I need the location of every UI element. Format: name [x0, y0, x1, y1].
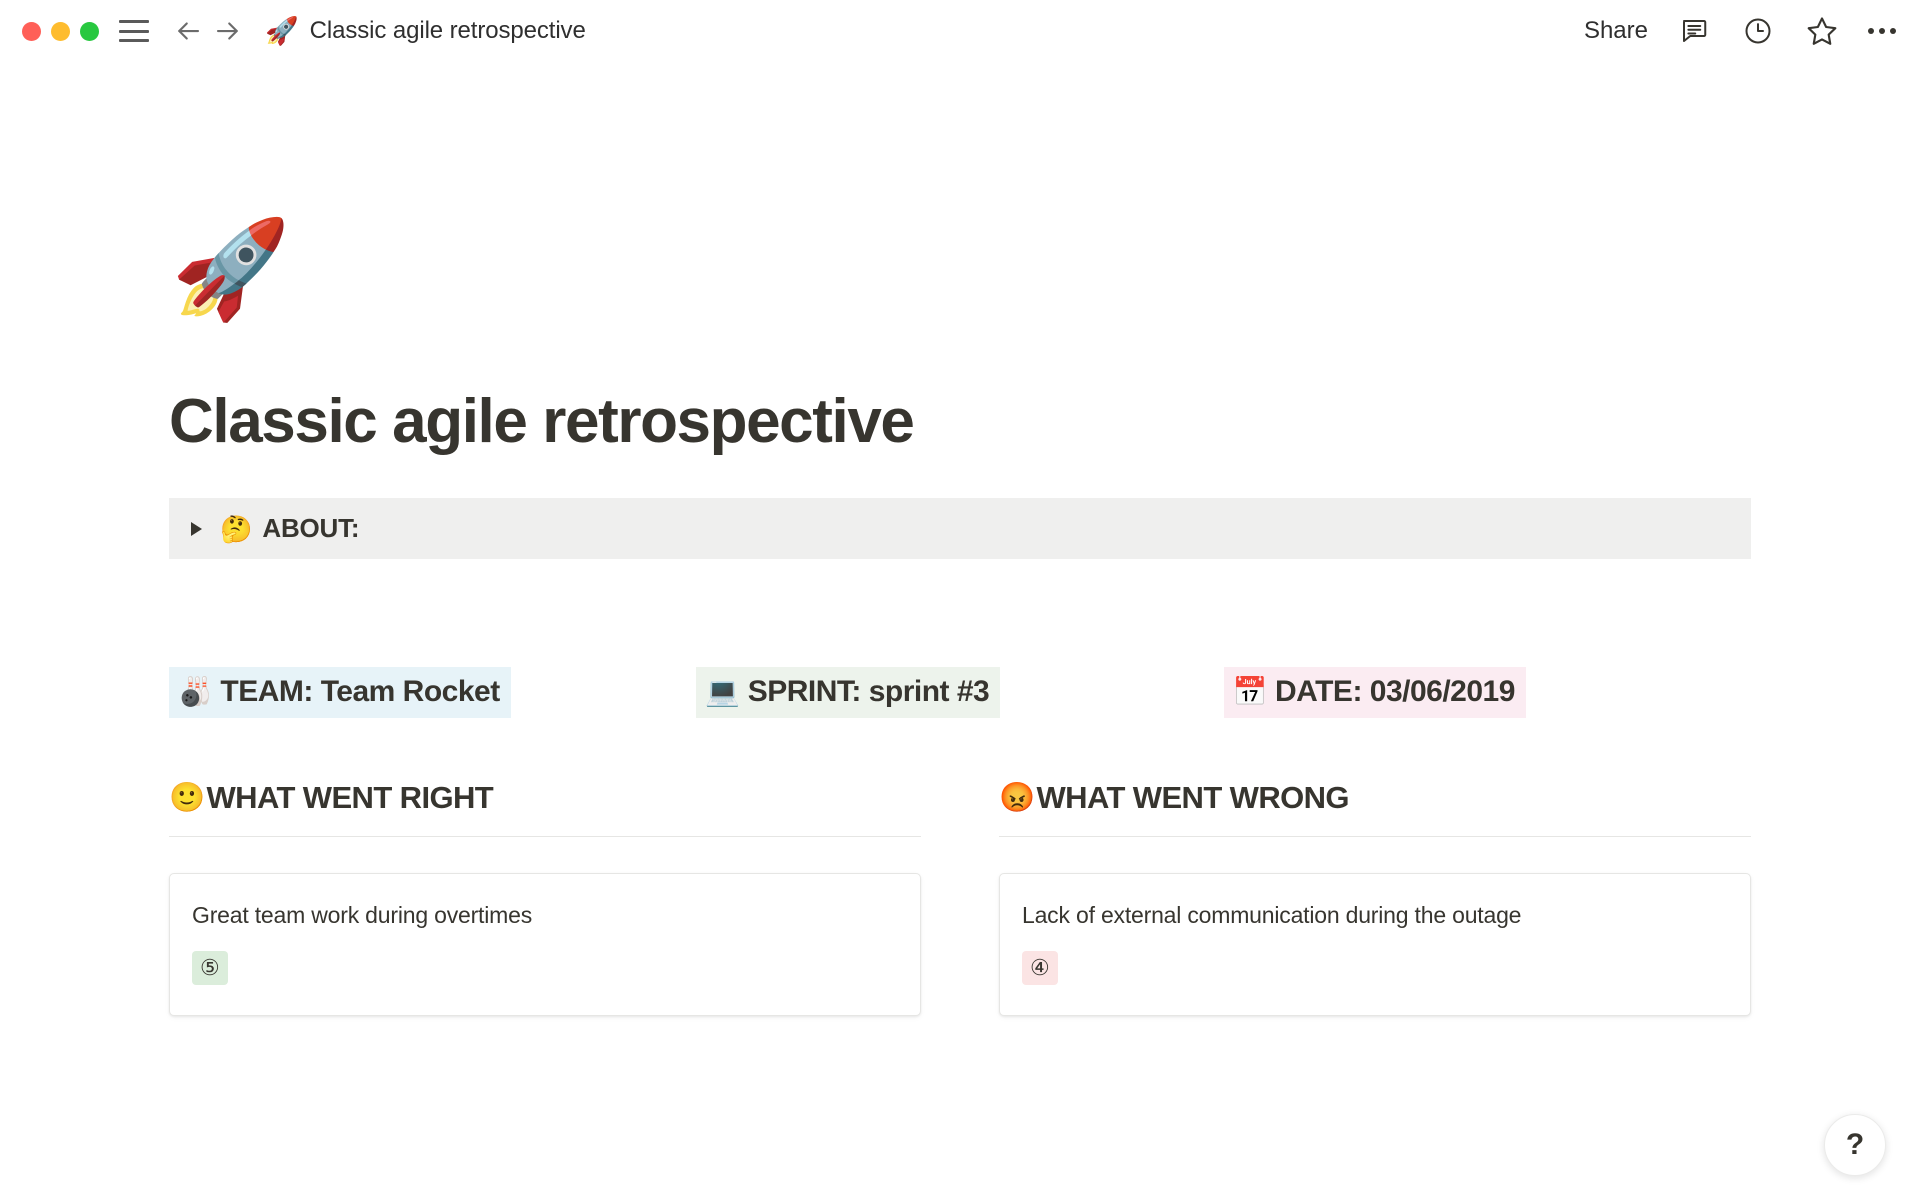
column-heading-right[interactable]: 🙂 WHAT WENT RIGHT	[169, 780, 921, 836]
info-chip-date-label: DATE: 03/06/2019	[1275, 675, 1515, 709]
divider	[999, 836, 1751, 837]
rocket-icon: 🚀	[265, 18, 299, 45]
toggle-block-about[interactable]: 🤔 ABOUT:	[169, 498, 1751, 559]
info-chip-team[interactable]: 🎳 TEAM: Team Rocket	[169, 667, 511, 718]
minimize-window-button[interactable]	[51, 22, 70, 41]
column-heading-right-label: WHAT WENT RIGHT	[207, 780, 494, 816]
breadcrumb[interactable]: 🚀 Classic agile retrospective	[265, 17, 586, 45]
retro-card-text: Great team work during overtimes	[192, 900, 898, 931]
retrospective-columns: 🙂 WHAT WENT RIGHT Great team work during…	[169, 780, 1751, 1016]
breadcrumb-title: Classic agile retrospective	[310, 17, 586, 45]
calendar-icon: 📅	[1233, 678, 1267, 706]
column-what-went-right: 🙂 WHAT WENT RIGHT Great team work during…	[169, 780, 921, 1016]
status-badge[interactable]: ⑤	[192, 951, 228, 985]
laptop-icon: 💻	[705, 678, 739, 706]
info-chip-sprint[interactable]: 💻 SPRINT: sprint #3	[696, 667, 1000, 718]
info-chip-sprint-label: SPRINT: sprint #3	[748, 675, 990, 709]
info-chip-team-label: TEAM: Team Rocket	[220, 675, 499, 709]
chevron-right-icon[interactable]	[191, 522, 202, 536]
info-column-team: 🎳 TEAM: Team Rocket	[169, 667, 696, 718]
toolbar-actions: Share	[1584, 13, 1896, 49]
divider	[169, 836, 921, 837]
info-chip-date[interactable]: 📅 DATE: 03/06/2019	[1224, 667, 1526, 718]
column-heading-wrong[interactable]: 😡 WHAT WENT WRONG	[999, 780, 1751, 836]
thinking-face-icon: 🤔	[220, 516, 252, 542]
close-window-button[interactable]	[22, 22, 41, 41]
retro-card[interactable]: Lack of external communication during th…	[999, 873, 1751, 1016]
slightly-smiling-face-icon: 🙂	[169, 784, 205, 813]
status-badge[interactable]: ④	[1022, 951, 1058, 985]
retro-card[interactable]: Great team work during overtimes ⑤	[169, 873, 921, 1016]
maximize-window-button[interactable]	[80, 22, 99, 41]
hamburger-icon[interactable]	[119, 20, 149, 42]
window-title-bar: 🚀 Classic agile retrospective Share	[0, 0, 1920, 62]
document-page: 🚀 Classic agile retrospective 🤔 ABOUT: 🎳…	[0, 62, 1920, 1200]
page-title[interactable]: Classic agile retrospective	[169, 388, 1751, 456]
toggle-label-about: ABOUT:	[262, 513, 359, 544]
star-icon[interactable]	[1804, 13, 1840, 49]
arrow-left-icon[interactable]	[171, 14, 205, 48]
info-column-date: 📅 DATE: 03/06/2019	[1224, 667, 1751, 718]
help-button[interactable]: ?	[1824, 1114, 1886, 1176]
traffic-lights	[22, 22, 99, 41]
retro-card-text: Lack of external communication during th…	[1022, 900, 1728, 931]
info-row: 🎳 TEAM: Team Rocket 💻 SPRINT: sprint #3 …	[169, 667, 1751, 718]
column-what-went-wrong: 😡 WHAT WENT WRONG Lack of external commu…	[999, 780, 1751, 1016]
column-heading-wrong-label: WHAT WENT WRONG	[1037, 780, 1349, 816]
clock-icon[interactable]	[1740, 13, 1776, 49]
info-column-sprint: 💻 SPRINT: sprint #3	[696, 667, 1223, 718]
document-content: 🚀 Classic agile retrospective 🤔 ABOUT: 🎳…	[169, 62, 1751, 1016]
share-button[interactable]: Share	[1584, 17, 1648, 45]
bowling-icon: 🎳	[178, 678, 212, 706]
angry-face-icon: 😡	[999, 784, 1035, 813]
more-options-icon[interactable]	[1868, 28, 1896, 34]
page-icon[interactable]: 🚀	[171, 222, 1751, 352]
arrow-right-icon[interactable]	[211, 14, 245, 48]
comment-icon[interactable]	[1676, 13, 1712, 49]
